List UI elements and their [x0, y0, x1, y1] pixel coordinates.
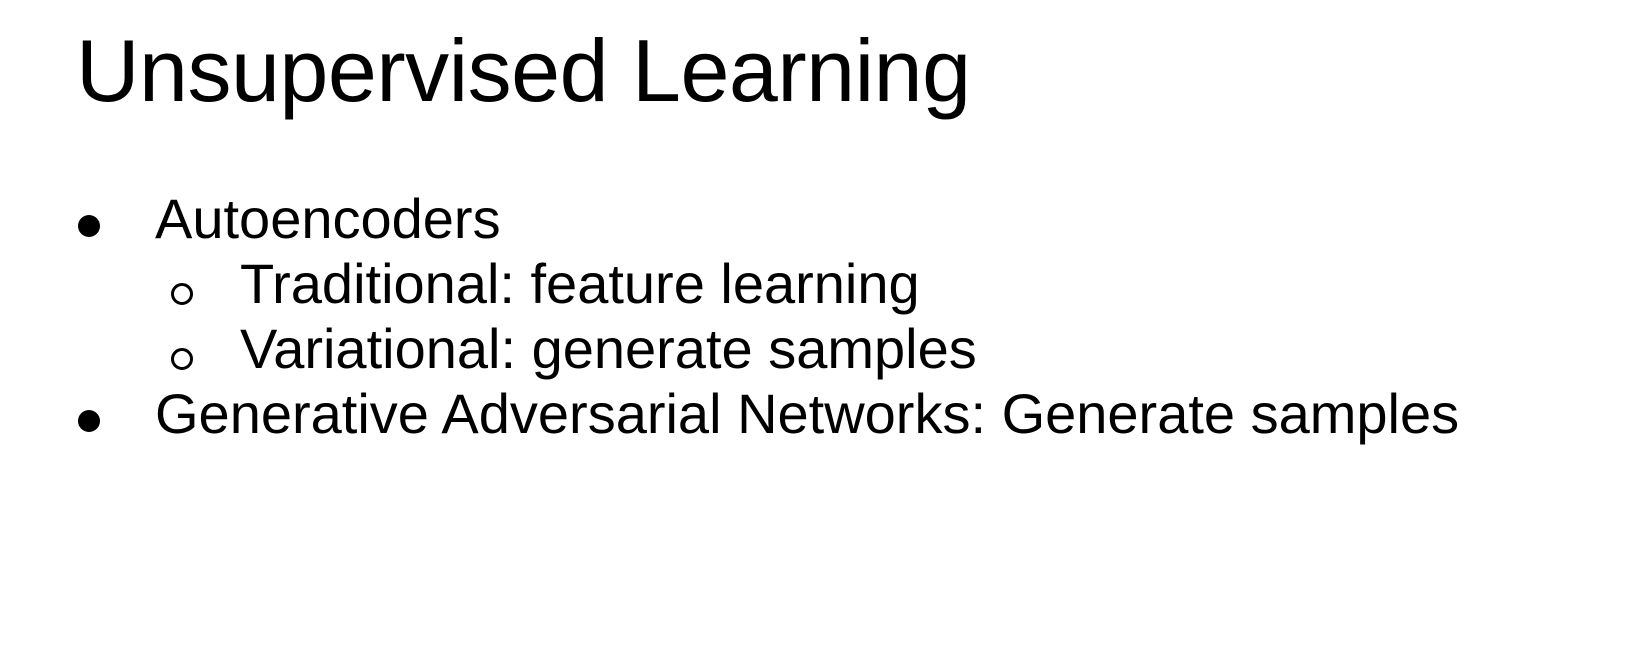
list-item-label: Generative Adversarial Networks: Generat…	[155, 383, 1459, 445]
list-item: Autoencoders	[0, 188, 1638, 253]
filled-disc-bullet-icon	[78, 383, 102, 448]
list-item: Traditional: feature learning	[0, 253, 1638, 318]
list-item: Variational: generate samples	[0, 318, 1638, 383]
hollow-circle-bullet-icon	[168, 253, 192, 318]
list-item-label: Autoencoders	[155, 188, 501, 250]
list-item-label: Variational: generate samples	[240, 318, 977, 380]
list-item: Generative Adversarial Networks: Generat…	[0, 383, 1638, 448]
slide-title: Unsupervised Learning	[76, 16, 971, 126]
presentation-slide: Unsupervised Learning Autoencoders Tradi…	[0, 0, 1638, 650]
hollow-circle-bullet-icon	[168, 318, 192, 383]
list-item-label: Traditional: feature learning	[240, 253, 920, 315]
filled-disc-bullet-icon	[78, 188, 102, 253]
bullet-list: Autoencoders Traditional: feature learni…	[0, 188, 1638, 448]
